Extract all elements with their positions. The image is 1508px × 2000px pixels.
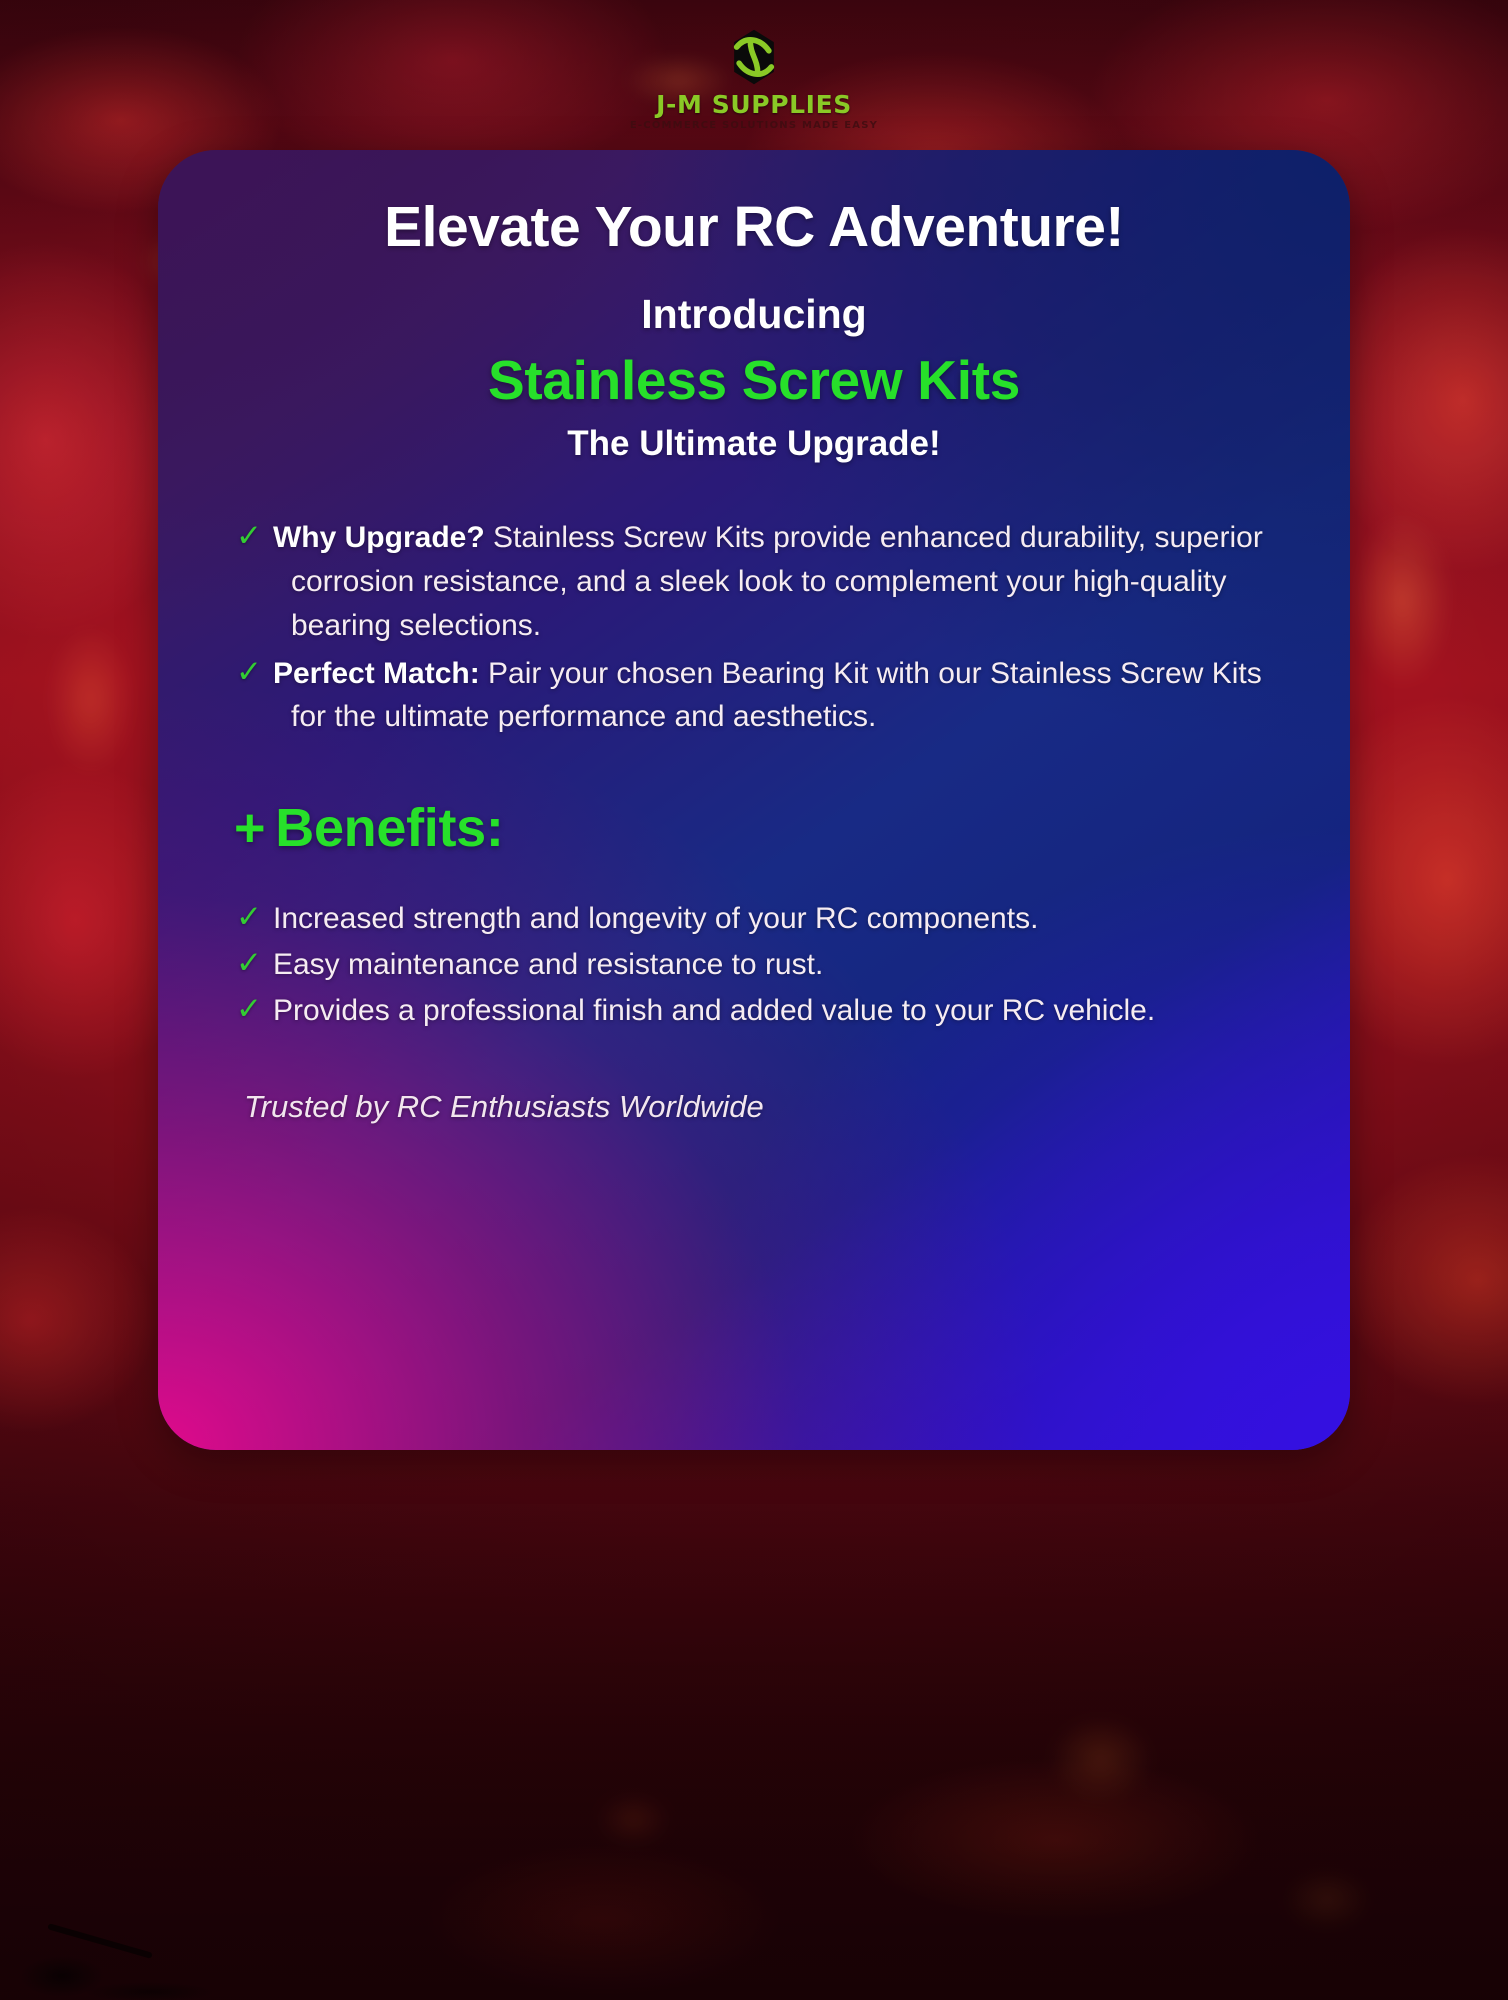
list-item: ✓ Why Upgrade? Stainless Screw Kits prov…: [236, 516, 1290, 648]
benefit-text: Easy maintenance and resistance to rust.: [273, 943, 823, 987]
list-item: ✓ Easy maintenance and resistance to rus…: [236, 943, 1290, 987]
brand-name: J-M SUPPLIES: [656, 90, 852, 119]
background-silhouette: [0, 1880, 420, 2000]
benefit-list: ✓ Increased strength and longevity of yo…: [218, 897, 1290, 1033]
benefit-text: Provides a professional finish and added…: [273, 989, 1155, 1033]
list-item: ✓ Increased strength and longevity of yo…: [236, 897, 1290, 941]
checkmark-icon: ✓: [236, 516, 262, 556]
benefits-heading-label: Benefits:: [275, 798, 503, 858]
card-content: Elevate Your RC Adventure! Introducing S…: [158, 150, 1350, 1450]
checkmark-icon: ✓: [236, 943, 262, 983]
feature-lead: Why Upgrade?: [273, 521, 485, 554]
list-item: ✓ Provides a professional finish and add…: [236, 989, 1290, 1033]
checkmark-icon: ✓: [236, 652, 262, 692]
jm-eye-logo-icon: [723, 26, 785, 88]
list-item: ✓ Perfect Match: Pair your chosen Bearin…: [236, 652, 1290, 740]
intro-label: Introducing: [218, 291, 1290, 338]
brand-logo: J-M SUPPLIES E-COMMERCE SOLUTIONS MADE E…: [0, 26, 1508, 131]
plus-icon: +: [234, 798, 265, 858]
checkmark-icon: ✓: [236, 989, 262, 1029]
product-name: Stainless Screw Kits: [218, 348, 1290, 412]
feature-text: Perfect Match: Pair your chosen Bearing …: [273, 652, 1290, 740]
page-title: Elevate Your RC Adventure!: [218, 196, 1290, 259]
feature-lead: Perfect Match:: [273, 657, 480, 690]
promo-card: Elevate Your RC Adventure! Introducing S…: [158, 150, 1350, 1450]
feature-text: Why Upgrade? Stainless Screw Kits provid…: [273, 516, 1290, 648]
footer-note: Trusted by RC Enthusiasts Worldwide: [218, 1089, 1290, 1125]
product-tagline: The Ultimate Upgrade!: [218, 424, 1290, 464]
brand-tagline: E-COMMERCE SOLUTIONS MADE EASY: [630, 120, 878, 131]
promo-poster: J-M SUPPLIES E-COMMERCE SOLUTIONS MADE E…: [0, 0, 1508, 2000]
feature-list: ✓ Why Upgrade? Stainless Screw Kits prov…: [218, 516, 1290, 740]
benefits-heading: +Benefits:: [218, 797, 1290, 859]
benefit-text: Increased strength and longevity of your…: [273, 897, 1038, 941]
checkmark-icon: ✓: [236, 897, 262, 937]
